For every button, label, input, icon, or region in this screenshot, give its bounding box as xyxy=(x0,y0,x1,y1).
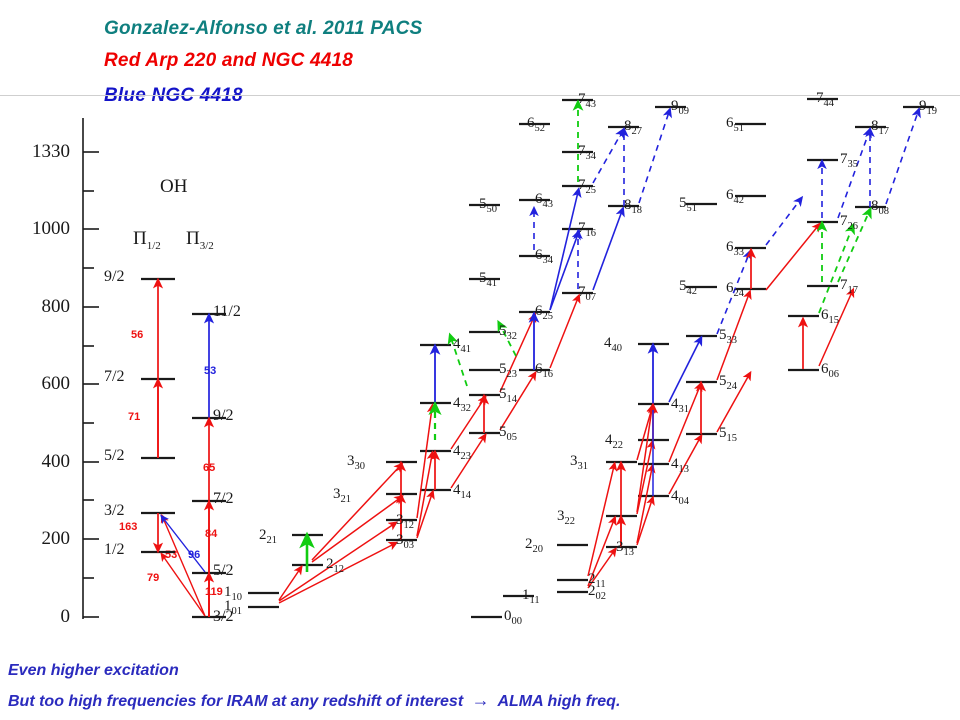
level-label-4_04: 404 xyxy=(671,489,689,508)
level-label-8_27: 827 xyxy=(624,119,642,138)
level-label-6_33: 633 xyxy=(726,240,744,259)
caption-line-1: Even higher excitation xyxy=(8,662,179,680)
level-label-9_09: 909 xyxy=(671,99,689,118)
level-label-5_33: 533 xyxy=(719,328,737,347)
level-label-3_03: 303 xyxy=(396,533,414,552)
y-axis xyxy=(83,118,99,619)
level-label-6_52: 652 xyxy=(527,116,545,135)
level-label-2_02: 202 xyxy=(588,584,606,603)
level-label-4_14: 414 xyxy=(453,483,471,502)
level-label-6_42: 642 xyxy=(726,188,744,207)
level-label-3_22: 322 xyxy=(557,509,575,528)
level-label-4_23: 423 xyxy=(453,444,471,463)
level-label-7_17: 717 xyxy=(840,278,858,297)
level-label-6_25: 625 xyxy=(535,304,553,323)
level-label-7_07: 707 xyxy=(578,285,596,304)
caption-line-2: But too high frequencies for IRAM at any… xyxy=(8,690,620,711)
level-label-6_34: 634 xyxy=(535,248,553,267)
level-label-5_24: 524 xyxy=(719,374,737,393)
level-label-5_42: 542 xyxy=(679,279,697,298)
level-label-4_13: 413 xyxy=(671,457,689,476)
level-label-6_43: 643 xyxy=(535,192,553,211)
level-label-1_01: 101 xyxy=(224,599,242,618)
level-label-3_31: 331 xyxy=(570,454,588,473)
level-label-3_30: 330 xyxy=(347,454,365,473)
level-label-0_00: 000 xyxy=(504,609,522,628)
level-label-3_21: 321 xyxy=(333,487,351,506)
level-label-5_05: 505 xyxy=(499,425,517,444)
level-label-3_12: 312 xyxy=(396,513,414,532)
level-label-9_19: 919 xyxy=(919,99,937,118)
level-label-5_14: 514 xyxy=(499,387,517,406)
arrow-icon: → xyxy=(468,690,494,710)
level-label-4_40: 440 xyxy=(604,336,622,355)
para-h2o-transitions xyxy=(588,112,918,588)
oh-transitions xyxy=(158,283,209,617)
level-label-4_41: 441 xyxy=(453,337,471,356)
level-label-7_44: 744 xyxy=(816,91,834,110)
level-label-7_43: 743 xyxy=(578,92,596,111)
level-label-8_17: 817 xyxy=(871,119,889,138)
level-label-6_51: 651 xyxy=(726,116,744,135)
level-label-8_08: 808 xyxy=(871,199,889,218)
level-label-6_24: 624 xyxy=(726,281,744,300)
level-label-5_15: 515 xyxy=(719,426,737,445)
level-label-5_51: 551 xyxy=(679,196,697,215)
level-label-6_15: 615 xyxy=(821,308,839,327)
level-label-2_20: 220 xyxy=(525,537,543,556)
level-label-7_26: 726 xyxy=(840,214,858,233)
slide-root: Gonzalez-Alfonso et al. 2011 PACS Red Ar… xyxy=(0,0,960,720)
level-label-7_34: 734 xyxy=(578,144,596,163)
level-label-6_16: 616 xyxy=(535,362,553,381)
level-label-8_18: 818 xyxy=(624,198,642,217)
level-label-3_13: 313 xyxy=(616,540,634,559)
caption-line-2-tail: ALMA high freq. xyxy=(497,693,620,710)
level-label-4_32: 432 xyxy=(453,396,471,415)
level-label-6_06: 606 xyxy=(821,362,839,381)
caption-line-2-text: But too high frequencies for IRAM at any… xyxy=(8,693,463,710)
level-label-5_32: 532 xyxy=(499,324,517,343)
level-label-4_31: 431 xyxy=(671,397,689,416)
level-label-7_35: 735 xyxy=(840,152,858,171)
level-label-1_11: 111 xyxy=(522,588,540,607)
level-label-2_21: 221 xyxy=(259,528,277,547)
level-label-5_23: 523 xyxy=(499,362,517,381)
level-label-5_50: 550 xyxy=(479,197,497,216)
level-label-5_41: 541 xyxy=(479,271,497,290)
level-label-4_22: 422 xyxy=(605,433,623,452)
level-label-7_25: 725 xyxy=(578,178,596,197)
level-label-2_12: 212 xyxy=(326,557,344,576)
level-label-7_16: 716 xyxy=(578,221,596,240)
